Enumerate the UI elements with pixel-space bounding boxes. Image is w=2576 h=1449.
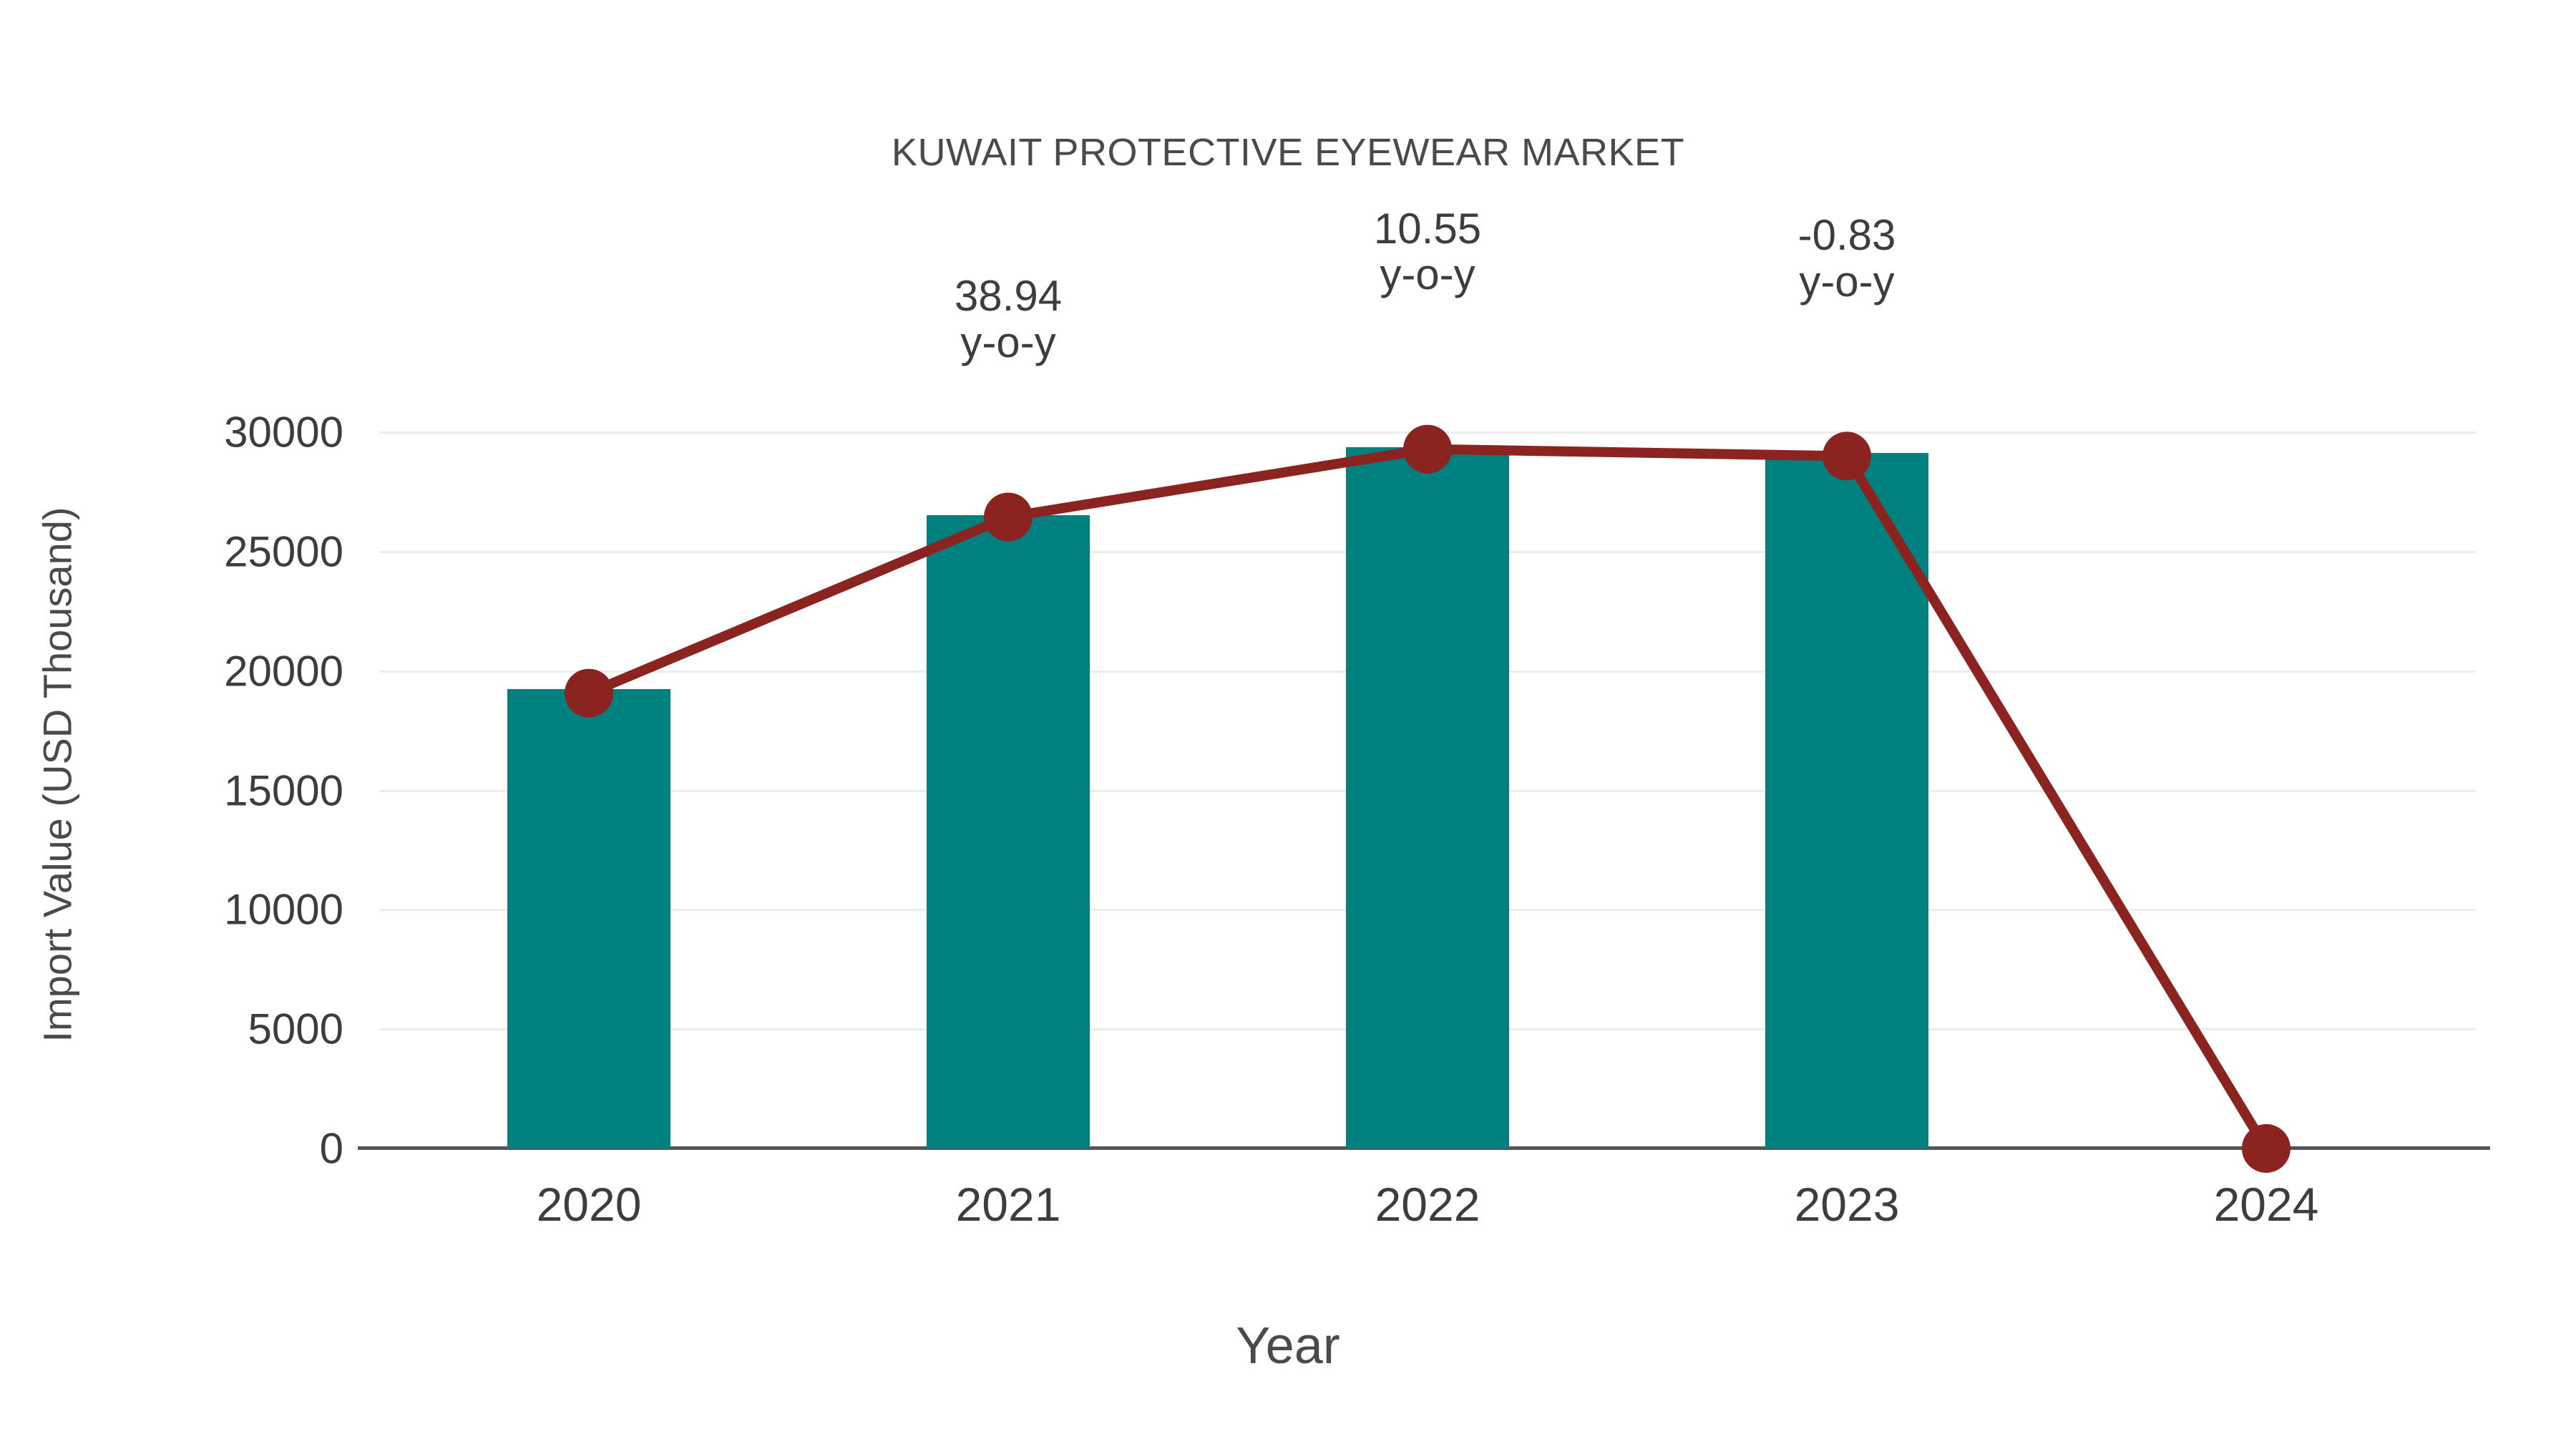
chart-container: KUWAIT PROTECTIVE EYEWEAR MARKET Import … — [0, 0, 2576, 1449]
y-axis-tick-label: 5000 — [21, 1005, 343, 1054]
x-axis-tick-label: 2022 — [1284, 1177, 1571, 1231]
yoy-annotation-value: 10.55 — [1213, 206, 1642, 253]
bar[interactable] — [507, 689, 670, 1148]
x-axis-tick-label: 2021 — [865, 1177, 1151, 1231]
yoy-annotation-unit: y-o-y — [1213, 252, 1642, 298]
y-axis-tick-label: 15000 — [21, 766, 343, 815]
x-axis-tick-label: 2024 — [2123, 1177, 2409, 1231]
yoy-annotation-value: -0.83 — [1632, 213, 2062, 259]
bar[interactable] — [927, 515, 1090, 1148]
yoy-annotation: 10.55y-o-y — [1213, 206, 1642, 299]
yoy-annotation-unit: y-o-y — [794, 320, 1223, 366]
x-axis-tick-label: 2020 — [446, 1177, 732, 1231]
chart-title: KUWAIT PROTECTIVE EYEWEAR MARKET — [0, 130, 2576, 175]
yoy-annotation-unit: y-o-y — [1632, 259, 2062, 306]
bar[interactable] — [1765, 453, 1928, 1148]
yoy-annotation-value: 38.94 — [794, 273, 1223, 320]
plot-area — [379, 432, 2476, 1148]
x-axis-tick-label: 2023 — [1704, 1177, 1990, 1231]
bar[interactable] — [1346, 447, 1509, 1148]
y-axis-tick-label: 0 — [21, 1124, 343, 1174]
y-axis-tick-label: 10000 — [21, 885, 343, 935]
yoy-annotation: -0.83y-o-y — [1632, 213, 2062, 306]
y-axis-tick-label: 25000 — [21, 527, 343, 576]
y-axis-tick-label: 20000 — [21, 646, 343, 696]
yoy-annotation: 38.94y-o-y — [794, 273, 1223, 366]
x-axis-title: Year — [0, 1317, 2576, 1375]
y-axis-tick-label: 30000 — [21, 408, 343, 457]
